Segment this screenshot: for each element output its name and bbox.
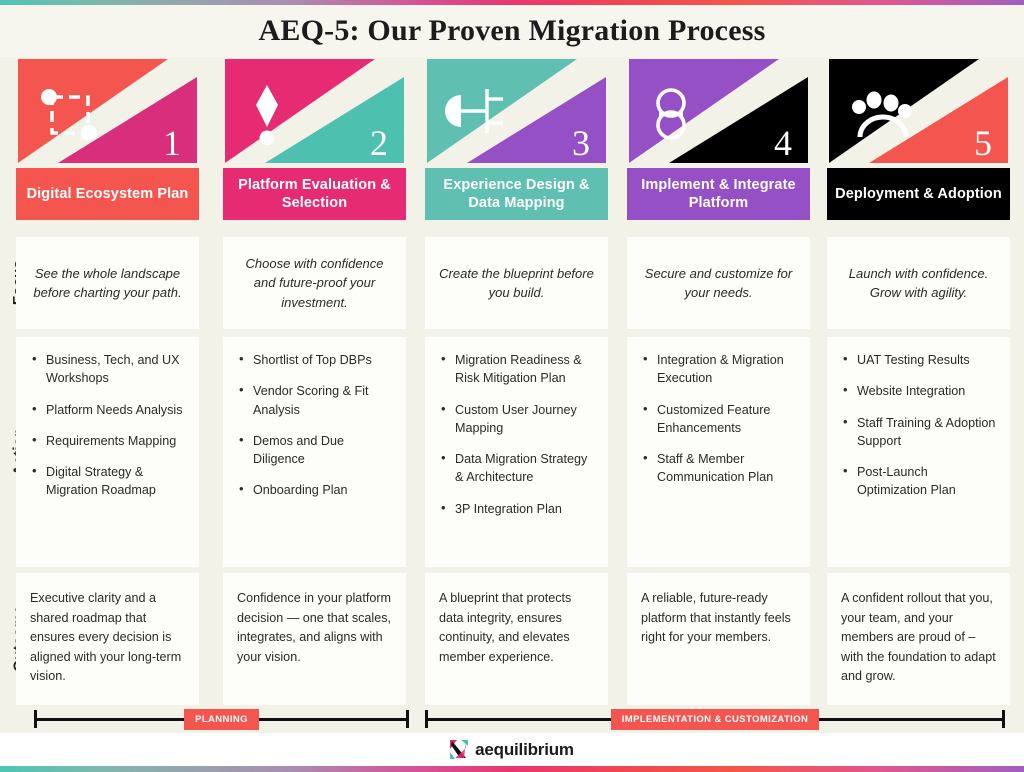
focus-text-2: Choose with confidence and future-proof … [235, 254, 394, 313]
outcome-text-2: Confidence in your platform decision — o… [237, 589, 393, 667]
action-item: Staff & Member Communication Plan [641, 450, 798, 487]
step-number-4: 4 [774, 125, 792, 161]
focus-text-5: Launch with confidence. Grow with agilit… [839, 264, 998, 303]
infographic-page: AEQ-5: Our Proven Migration Process Focu… [0, 0, 1024, 772]
step-number-5: 5 [974, 125, 992, 161]
outcome-text-1: Executive clarity and a shared roadmap t… [30, 589, 186, 687]
outcome-cell-4: A reliable, future-ready platform that i… [627, 573, 810, 705]
top-gradient-bar [0, 0, 1024, 5]
step-header-3: Experience Design & Data Mapping [425, 168, 608, 220]
bracket-line [259, 718, 406, 721]
outcome-text-3: A blueprint that protects data integrity… [439, 589, 595, 667]
action-list-4: Integration & Migration Execution Custom… [641, 351, 798, 487]
process-column-1: 1 Digital Ecosystem Plan See the whole l… [16, 57, 199, 220]
aequilibrium-hourglass-logo [450, 740, 468, 759]
phase-badge-implementation: IMPLEMENTATION & CUSTOMIZATION [611, 709, 820, 730]
bracket-line [428, 718, 611, 721]
phase-bracket-row: PLANNING IMPLEMENTATION & CUSTOMIZATION [0, 705, 1024, 733]
action-cell-5: UAT Testing Results Website Integration … [827, 337, 1010, 567]
action-item: Integration & Migration Execution [641, 351, 798, 388]
step-banner-5: 5 [827, 57, 1010, 165]
action-cell-1: Business, Tech, and UX Workshops Platfor… [16, 337, 199, 567]
brand-wordmark: aequilibrium [475, 740, 574, 760]
focus-cell-4: Secure and customize for your needs. [627, 237, 810, 329]
bracket-line [37, 718, 184, 721]
action-item: Staff Training & Adoption Support [841, 414, 998, 451]
action-item: Custom User Journey Mapping [439, 401, 596, 438]
bracket-endcap-right [1002, 710, 1005, 728]
action-item: 3P Integration Plan [439, 500, 596, 518]
action-cell-2: Shortlist of Top DBPs Vendor Scoring & F… [223, 337, 406, 567]
bracket-line [819, 718, 1002, 721]
step-header-1: Digital Ecosystem Plan [16, 168, 199, 220]
action-item: Demos and Due Diligence [237, 432, 394, 469]
footer-brand-bar: aequilibrium [0, 733, 1024, 766]
bracket-endcap-right [406, 710, 409, 728]
outcome-text-4: A reliable, future-ready platform that i… [641, 589, 797, 648]
step-header-5: Deployment & Adoption [827, 168, 1010, 220]
process-column-5: 5 Deployment & Adoption Launch with conf… [827, 57, 1010, 220]
process-columns: 1 Digital Ecosystem Plan See the whole l… [0, 57, 1024, 705]
focus-cell-2: Choose with confidence and future-proof … [223, 237, 406, 329]
outcome-cell-1: Executive clarity and a shared roadmap t… [16, 573, 199, 705]
phase-bracket-implementation: IMPLEMENTATION & CUSTOMIZATION [425, 705, 1005, 733]
step-number-3: 3 [572, 125, 590, 161]
title-bar: AEQ-5: Our Proven Migration Process [0, 5, 1024, 57]
outcome-text-5: A confident rollout that you, your team,… [841, 589, 997, 687]
bottom-gradient-bar [0, 766, 1024, 772]
page-title: AEQ-5: Our Proven Migration Process [259, 14, 766, 48]
process-column-2: 2 Platform Evaluation & Selection Choose… [223, 57, 406, 220]
focus-text-4: Secure and customize for your needs. [639, 264, 798, 303]
step-banner-4: 4 [627, 57, 810, 165]
step-number-2: 2 [370, 125, 388, 161]
focus-cell-3: Create the blueprint before you build. [425, 237, 608, 329]
phase-badge-planning: PLANNING [184, 709, 259, 730]
action-item: Requirements Mapping [30, 432, 187, 450]
action-item: Shortlist of Top DBPs [237, 351, 394, 369]
outcome-cell-3: A blueprint that protects data integrity… [425, 573, 608, 705]
action-item: Vendor Scoring & Fit Analysis [237, 382, 394, 419]
action-item: Onboarding Plan [237, 481, 394, 499]
outcome-cell-2: Confidence in your platform decision — o… [223, 573, 406, 705]
action-item: Migration Readiness & Risk Mitigation Pl… [439, 351, 596, 388]
action-item: Data Migration Strategy & Architecture [439, 450, 596, 487]
action-item: Platform Needs Analysis [30, 401, 187, 419]
step-number-1: 1 [163, 125, 181, 161]
action-item: Website Integration [841, 382, 998, 400]
step-header-2: Platform Evaluation & Selection [223, 168, 406, 220]
action-item: Digital Strategy & Migration Roadmap [30, 463, 187, 500]
action-item: UAT Testing Results [841, 351, 998, 369]
step-banner-2: 2 [223, 57, 406, 165]
process-column-4: 4 Implement & Integrate Platform Secure … [627, 57, 810, 220]
action-item: Business, Tech, and UX Workshops [30, 351, 187, 388]
action-list-2: Shortlist of Top DBPs Vendor Scoring & F… [237, 351, 394, 500]
action-item: Customized Feature Enhancements [641, 401, 798, 438]
process-column-3: 3 Experience Design & Data Mapping Creat… [425, 57, 608, 220]
outcome-cell-5: A confident rollout that you, your team,… [827, 573, 1010, 705]
step-banner-3: 3 [425, 57, 608, 165]
action-list-3: Migration Readiness & Risk Mitigation Pl… [439, 351, 596, 518]
phase-bracket-planning: PLANNING [34, 705, 409, 733]
step-header-4: Implement & Integrate Platform [627, 168, 810, 220]
action-item: Post-Launch Optimization Plan [841, 463, 998, 500]
focus-text-1: See the whole landscape before charting … [28, 264, 187, 303]
action-list-5: UAT Testing Results Website Integration … [841, 351, 998, 500]
focus-cell-5: Launch with confidence. Grow with agilit… [827, 237, 1010, 329]
action-list-1: Business, Tech, and UX Workshops Platfor… [30, 351, 187, 500]
focus-text-3: Create the blueprint before you build. [437, 264, 596, 303]
action-cell-3: Migration Readiness & Risk Mitigation Pl… [425, 337, 608, 567]
action-cell-4: Integration & Migration Execution Custom… [627, 337, 810, 567]
step-banner-1: 1 [16, 57, 199, 165]
focus-cell-1: See the whole landscape before charting … [16, 237, 199, 329]
